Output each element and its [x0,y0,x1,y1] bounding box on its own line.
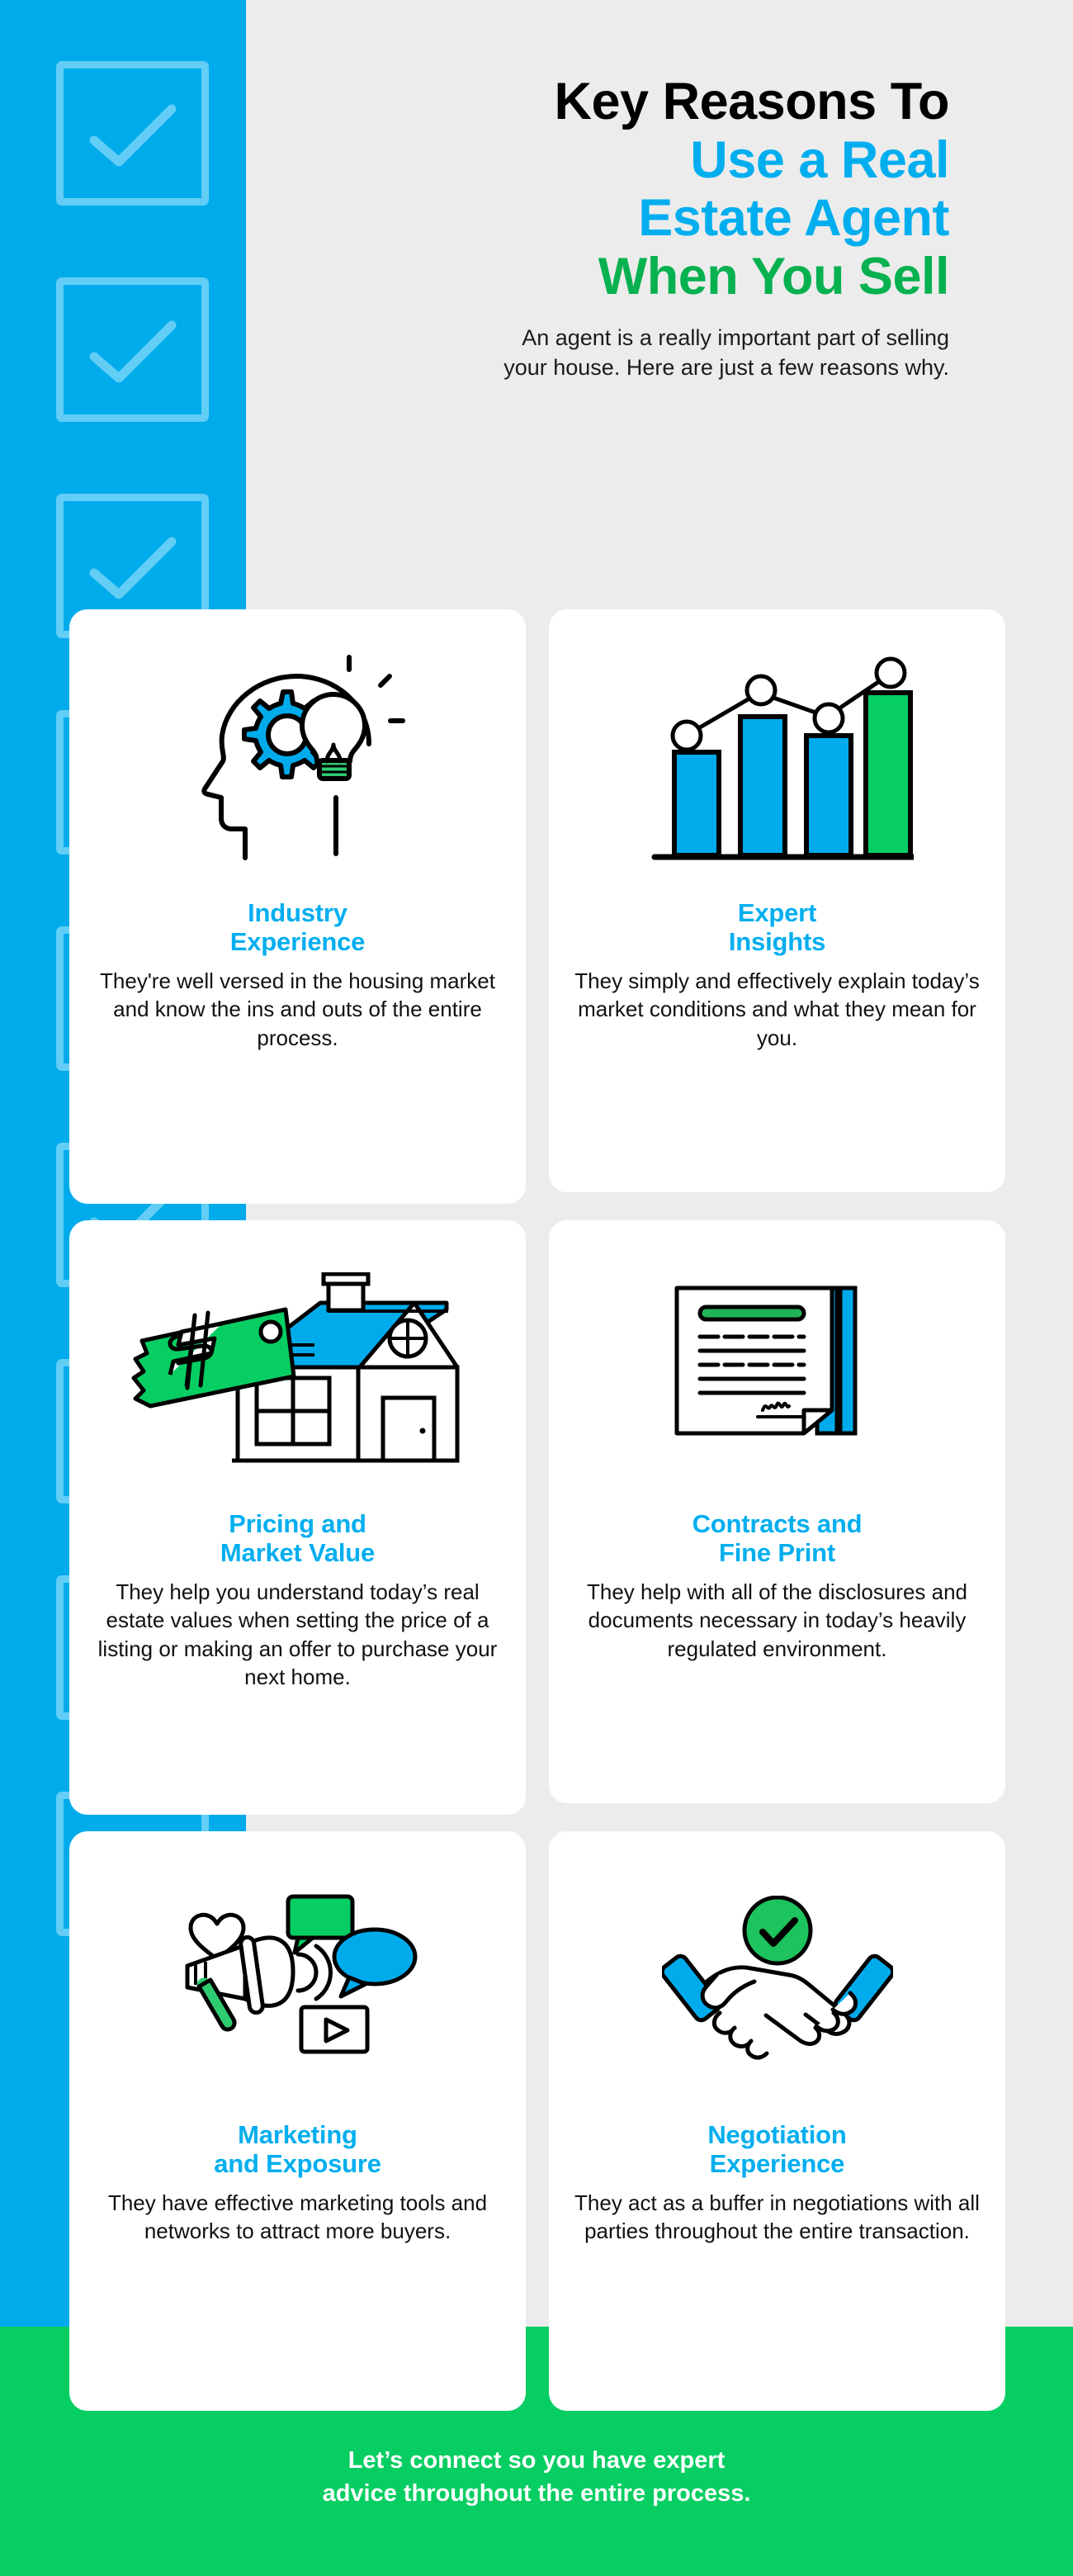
reason-card-industry-experience: Industry Experience They're well versed … [69,609,526,1204]
header: Key Reasons To Use a Real Estate Agent W… [281,73,949,382]
subtitle-line-1: An agent is a really important part of s… [281,324,949,353]
headline-line-3: Estate Agent [281,189,949,248]
card-body: They help with all of the disclosures an… [570,1578,984,1664]
card-title-line-1: Pricing and [220,1509,375,1538]
card-body: They help you understand today’s real es… [91,1578,504,1692]
megaphone-social-icon [91,1854,504,2119]
handshake-check-icon [570,1854,984,2119]
card-title-line-1: Expert [729,898,825,927]
card-title: Industry Experience [230,898,365,957]
card-title-line-2: Insights [729,927,825,956]
reason-card-marketing-exposure: Marketing and Exposure They have effecti… [69,1831,526,2411]
checkbox-decoration [56,61,209,206]
card-title-line-2: Experience [707,2149,846,2178]
card-title-line-2: Experience [230,927,365,956]
headline-line-4: When You Sell [281,248,949,306]
card-body: They act as a buffer in negotiations wit… [570,2189,984,2246]
card-title-line-2: and Exposure [214,2149,381,2178]
card-title-line-2: Market Value [220,1538,375,1567]
card-body: They simply and effectively explain toda… [570,967,984,1053]
house-price-tag-icon [91,1243,504,1508]
reason-card-expert-insights: Expert Insights They simply and effectiv… [549,609,1005,1192]
card-title-line-1: Marketing [214,2120,381,2149]
footer-line-2: advice throughout the entire process. [0,2477,1073,2510]
card-title: Expert Insights [729,898,825,957]
page-subtitle: An agent is a really important part of s… [281,324,949,382]
card-body: They're well versed in the housing marke… [91,967,504,1053]
headline-line-1: Key Reasons To [281,73,949,131]
card-body: They have effective marketing tools and … [91,2189,504,2246]
footer-cta: Let’s connect so you have expert advice … [0,2444,1073,2510]
reason-card-pricing-market-value: Pricing and Market Value They help you u… [69,1220,526,1815]
page-title: Key Reasons To Use a Real Estate Agent W… [281,73,949,305]
subtitle-line-2: your house. Here are just a few reasons … [281,353,949,383]
card-title: Negotiation Experience [707,2120,846,2179]
contract-document-icon [570,1243,984,1508]
card-title-line-1: Contracts and [692,1509,863,1538]
card-title-line-1: Industry [230,898,365,927]
headline-line-2: Use a Real [281,131,949,190]
head-gear-lightbulb-icon [91,632,504,897]
checkbox-decoration [56,277,209,422]
card-title-line-2: Fine Print [692,1538,863,1567]
card-title: Pricing and Market Value [220,1509,375,1568]
card-title: Marketing and Exposure [214,2120,381,2179]
card-title: Contracts and Fine Print [692,1509,863,1568]
bar-chart-trend-icon [570,632,984,897]
footer-line-1: Let’s connect so you have expert [0,2444,1073,2477]
reason-card-contracts-fine-print: Contracts and Fine Print They help with … [549,1220,1005,1803]
reason-card-negotiation-experience: Negotiation Experience They act as a buf… [549,1831,1005,2411]
card-title-line-1: Negotiation [707,2120,846,2149]
